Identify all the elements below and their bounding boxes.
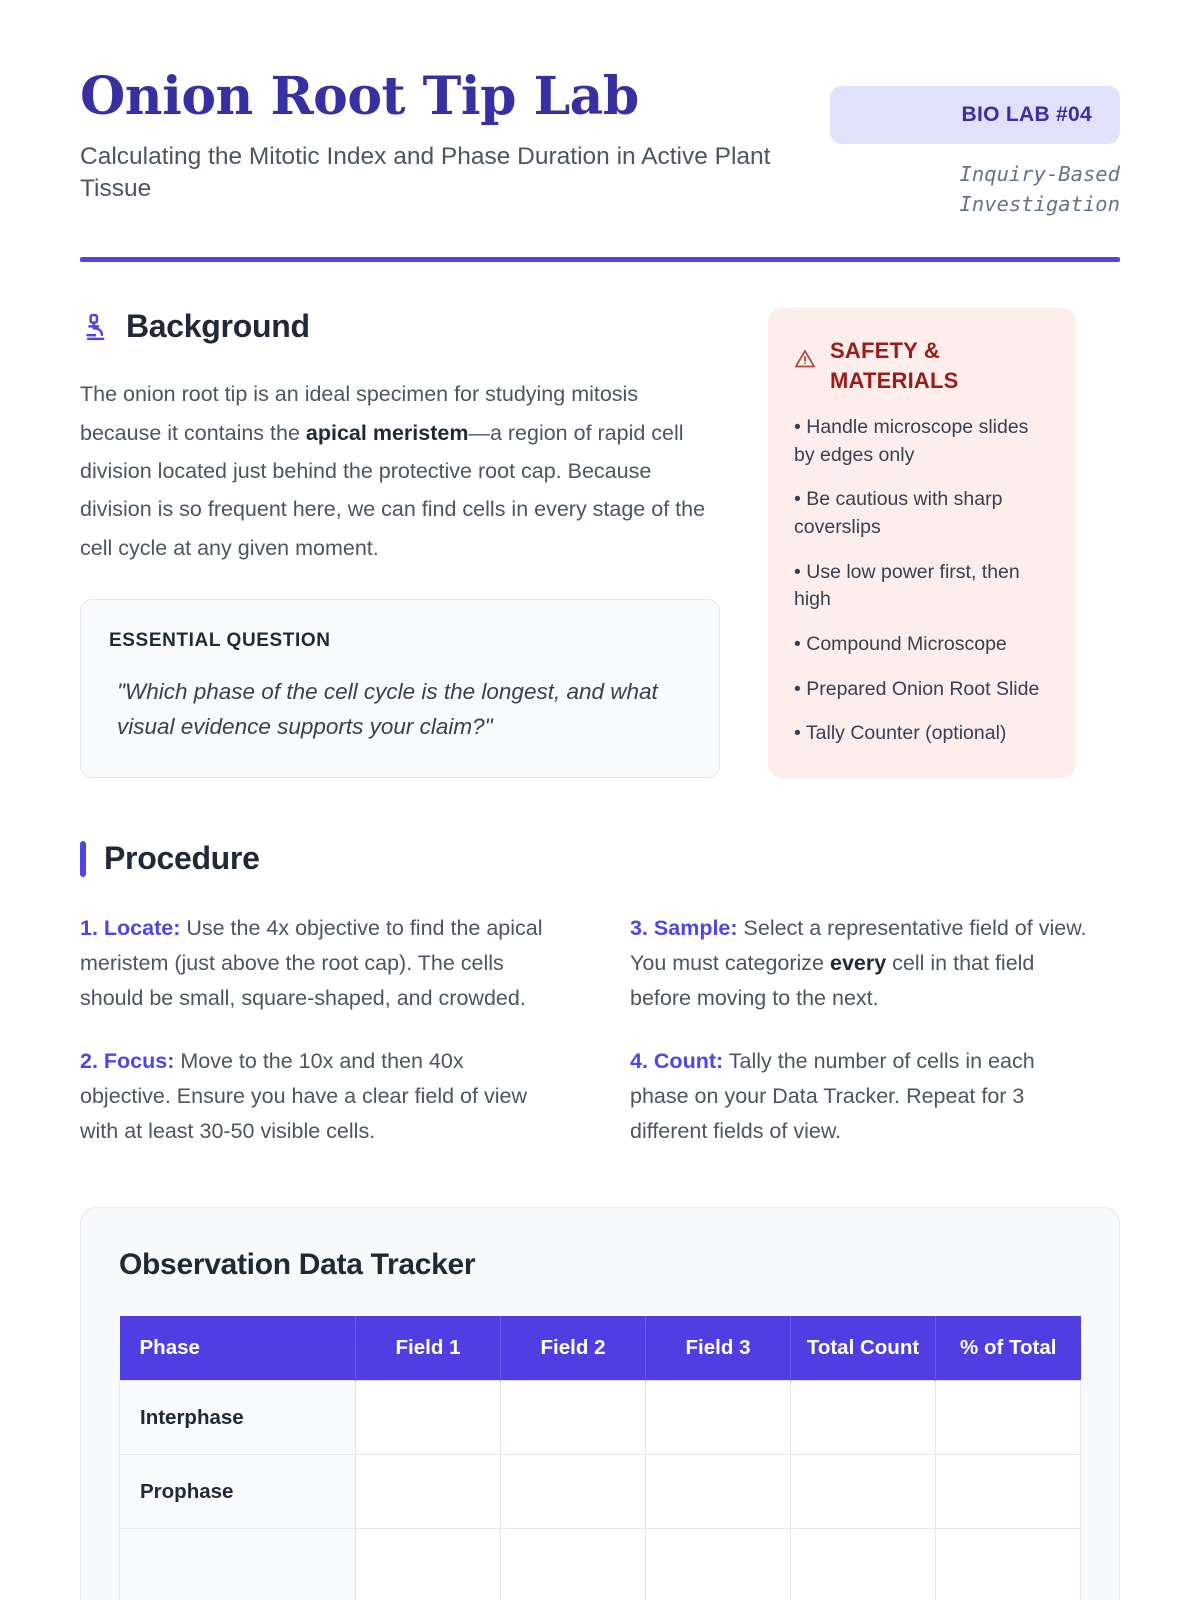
document-header: Onion Root Tip Lab Calculating the Mitot… [80, 62, 1120, 219]
procedure-steps-grid: 1. Locate: Use the 4x objective to find … [80, 911, 1120, 1149]
background-paragraph-bold: apical meristem [306, 421, 469, 445]
cell-field3[interactable] [646, 1455, 791, 1529]
table-row: Prophase [120, 1455, 1081, 1529]
cell-field3[interactable] [646, 1381, 791, 1455]
procedure-section-header: Procedure [80, 840, 1120, 877]
list-item: • Tally Counter (optional) [794, 720, 1050, 748]
background-section-header: Background [80, 308, 720, 345]
procedure-step-key: 3. Sample: [630, 916, 738, 940]
warning-triangle-icon [794, 336, 816, 375]
observation-data-tracker-card: Observation Data Tracker Phase Field 1 F… [80, 1207, 1120, 1600]
procedure-step: 4. Count: Tally the number of cells in e… [630, 1044, 1098, 1149]
cell-total[interactable] [791, 1381, 936, 1455]
cell-percent[interactable] [936, 1529, 1081, 1600]
procedure-step-bold: every [830, 951, 886, 975]
body-grid: Background The onion root tip is an idea… [80, 308, 1120, 778]
cell-field1[interactable] [356, 1455, 501, 1529]
safety-card-header: SAFETY & MATERIALS [794, 336, 1050, 395]
cell-field2[interactable] [501, 1381, 646, 1455]
lab-worksheet-page: Onion Root Tip Lab Calculating the Mitot… [0, 0, 1200, 1600]
safety-title: SAFETY & MATERIALS [830, 336, 1050, 395]
observation-data-table: Phase Field 1 Field 2 Field 3 Total Coun… [119, 1316, 1081, 1600]
cell-phase: Prophase [120, 1455, 356, 1529]
list-item: • Compound Microscope [794, 631, 1050, 659]
cell-total[interactable] [791, 1455, 936, 1529]
background-column: Background The onion root tip is an idea… [80, 308, 720, 778]
column-header-total-count: Total Count [791, 1316, 936, 1381]
procedure-step-key: 2. Focus: [80, 1049, 174, 1073]
procedure-column-right: 3. Sample: Select a representative field… [630, 911, 1098, 1149]
microscope-icon [80, 311, 110, 343]
badge-block: BIO LAB #04 Inquiry-Based Investigation [820, 62, 1120, 219]
cell-percent[interactable] [936, 1455, 1081, 1529]
procedure-step: 3. Sample: Select a representative field… [630, 911, 1098, 1016]
background-heading: Background [126, 308, 310, 345]
column-header-phase: Phase [120, 1316, 356, 1381]
essential-question-box: ESSENTIAL QUESTION "Which phase of the c… [80, 599, 720, 778]
cell-total[interactable] [791, 1529, 936, 1600]
procedure-section: Procedure 1. Locate: Use the 4x objectiv… [80, 840, 1120, 1149]
title-block: Onion Root Tip Lab Calculating the Mitot… [80, 62, 795, 206]
table-header-row: Phase Field 1 Field 2 Field 3 Total Coun… [120, 1316, 1081, 1381]
column-header-percent-of-total: % of Total [936, 1316, 1081, 1381]
procedure-heading: Procedure [104, 840, 260, 877]
column-header-field2: Field 2 [501, 1316, 646, 1381]
page-subtitle: Calculating the Mitotic Index and Phase … [80, 141, 795, 206]
page-title: Onion Root Tip Lab [80, 70, 795, 125]
table-header: Phase Field 1 Field 2 Field 3 Total Coun… [120, 1316, 1081, 1381]
procedure-step: 2. Focus: Move to the 10x and then 40x o… [80, 1044, 548, 1149]
lab-number-badge: BIO LAB #04 [830, 86, 1120, 144]
cell-field2[interactable] [501, 1529, 646, 1600]
header-divider [80, 257, 1120, 262]
procedure-step-key: 4. Count: [630, 1049, 723, 1073]
procedure-accent-bar [80, 841, 86, 877]
column-header-field1: Field 1 [356, 1316, 501, 1381]
essential-question-text: "Which phase of the cell cycle is the lo… [109, 674, 691, 745]
investigation-type-note: Inquiry-Based Investigation [820, 160, 1120, 219]
cell-percent[interactable] [936, 1381, 1081, 1455]
table-body: Interphase Prophase [120, 1381, 1081, 1600]
procedure-column-left: 1. Locate: Use the 4x objective to find … [80, 911, 548, 1149]
procedure-step: 1. Locate: Use the 4x objective to find … [80, 911, 548, 1016]
background-paragraph: The onion root tip is an ideal specimen … [80, 375, 720, 566]
list-item: • Prepared Onion Root Slide [794, 676, 1050, 704]
column-header-field3: Field 3 [646, 1316, 791, 1381]
cell-field1[interactable] [356, 1529, 501, 1600]
safety-materials-list: • Handle microscope slides by edges only… [794, 414, 1050, 748]
safety-materials-card: SAFETY & MATERIALS • Handle microscope s… [768, 308, 1076, 778]
cell-phase: Interphase [120, 1381, 356, 1455]
safety-column: SAFETY & MATERIALS • Handle microscope s… [768, 308, 1076, 778]
cell-field3[interactable] [646, 1529, 791, 1600]
cell-phase [120, 1529, 356, 1600]
essential-question-label: ESSENTIAL QUESTION [109, 630, 691, 652]
table-row [120, 1529, 1081, 1600]
list-item: • Be cautious with sharp coverslips [794, 486, 1050, 541]
list-item: • Use low power first, then high [794, 559, 1050, 614]
procedure-step-key: 1. Locate: [80, 916, 180, 940]
table-row: Interphase [120, 1381, 1081, 1455]
list-item: • Handle microscope slides by edges only [794, 414, 1050, 469]
cell-field2[interactable] [501, 1455, 646, 1529]
tracker-title: Observation Data Tracker [119, 1248, 1081, 1282]
cell-field1[interactable] [356, 1381, 501, 1455]
